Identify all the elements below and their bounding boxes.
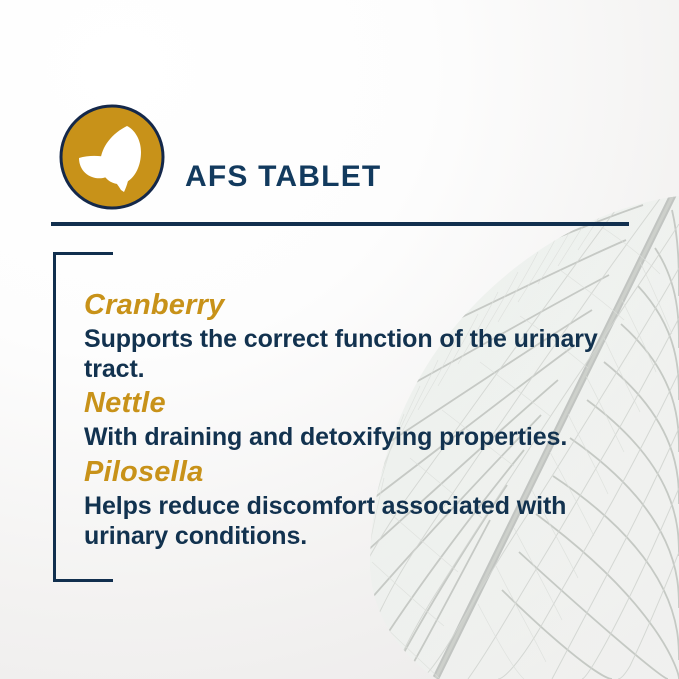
list-item: Cranberry Supports the correct function …: [84, 288, 624, 384]
ingredient-name: Nettle: [84, 386, 624, 422]
list-item: Pilosella Helps reduce discomfort associ…: [84, 455, 624, 551]
ingredient-name: Cranberry: [84, 288, 624, 324]
product-info-card: AFS TABLET Cranberry Supports the correc…: [0, 0, 679, 679]
bracket-bottom-arm: [53, 579, 113, 582]
bracket-side: [53, 252, 56, 582]
ingredient-description: Helps reduce discomfort associated with …: [84, 491, 614, 552]
ingredient-description: Supports the correct function of the uri…: [84, 324, 614, 385]
page-title: AFS TABLET: [185, 160, 381, 194]
header-divider: [51, 222, 629, 226]
ingredient-description: With draining and detoxifying properties…: [84, 422, 614, 452]
bracket-top-arm: [53, 252, 113, 255]
ingredient-name: Pilosella: [84, 455, 624, 491]
brand-logo: [57, 102, 167, 212]
list-item: Nettle With draining and detoxifying pro…: [84, 386, 624, 452]
ingredient-list: Cranberry Supports the correct function …: [84, 288, 624, 553]
